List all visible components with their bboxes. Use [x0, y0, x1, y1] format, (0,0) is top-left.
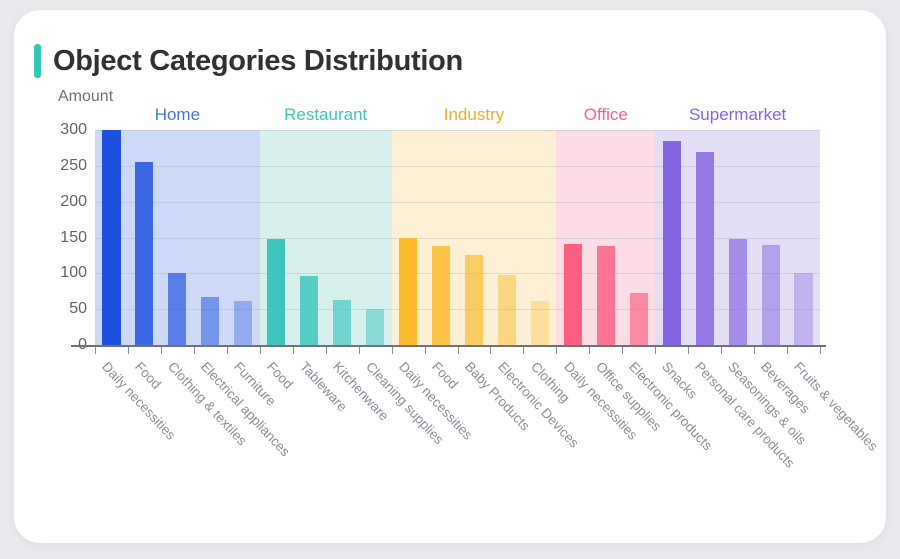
x-axis-tick	[754, 347, 755, 354]
x-axis-tick	[95, 347, 96, 354]
x-axis-tick	[128, 347, 129, 354]
bar[interactable]	[663, 141, 681, 345]
bar[interactable]	[333, 300, 351, 345]
bar[interactable]	[366, 309, 384, 345]
x-axis-tick	[589, 347, 590, 354]
x-axis-label: Food	[132, 359, 164, 392]
bar[interactable]	[234, 301, 252, 345]
x-axis-line	[71, 345, 826, 347]
y-axis-tick-label: 50	[43, 300, 87, 318]
group-label-industry: Industry	[444, 105, 504, 125]
x-axis-tick	[161, 347, 162, 354]
bar[interactable]	[564, 244, 582, 345]
bar[interactable]	[597, 246, 615, 345]
y-axis-tick-label: 250	[43, 157, 87, 175]
x-axis-tick	[458, 347, 459, 354]
x-axis-tick	[425, 347, 426, 354]
x-axis-tick	[392, 347, 393, 354]
x-axis-tick	[523, 347, 524, 354]
bar[interactable]	[498, 275, 516, 345]
x-axis-tick	[688, 347, 689, 354]
y-axis-tick-label: 300	[43, 121, 87, 139]
chart-card: Object Categories Distribution Amount 05…	[14, 10, 886, 543]
x-axis-tick	[260, 347, 261, 354]
x-axis-tick	[227, 347, 228, 354]
x-axis-tick	[326, 347, 327, 354]
bar[interactable]	[762, 245, 780, 345]
group-label-restaurant: Restaurant	[284, 105, 367, 125]
x-axis-tick	[490, 347, 491, 354]
bar[interactable]	[135, 162, 153, 345]
gridline	[95, 130, 820, 131]
x-axis-tick	[721, 347, 722, 354]
bar[interactable]	[300, 276, 318, 345]
bar[interactable]	[102, 130, 120, 345]
x-axis-tick	[359, 347, 360, 354]
x-axis-tick	[655, 347, 656, 354]
x-axis-tick	[787, 347, 788, 354]
y-axis-tick-label: 100	[43, 264, 87, 282]
bar[interactable]	[399, 238, 417, 346]
bar-chart-plot: 050100150200250300 HomeDaily necessities…	[14, 10, 886, 543]
y-axis-tick-label: 200	[43, 193, 87, 211]
bar[interactable]	[168, 273, 186, 345]
x-axis-tick	[556, 347, 557, 354]
x-axis-tick	[293, 347, 294, 354]
bar[interactable]	[630, 293, 648, 345]
y-axis-tick-label: 150	[43, 229, 87, 247]
bar[interactable]	[729, 239, 747, 345]
bar[interactable]	[696, 152, 714, 346]
bar[interactable]	[465, 255, 483, 345]
bar[interactable]	[201, 297, 219, 345]
group-label-office: Office	[584, 105, 628, 125]
bar[interactable]	[432, 246, 450, 345]
x-axis-tick	[194, 347, 195, 354]
bar[interactable]	[794, 273, 812, 345]
group-label-home: Home	[155, 105, 200, 125]
x-axis-tick	[622, 347, 623, 354]
group-label-supermarket: Supermarket	[689, 105, 786, 125]
x-axis-tick	[820, 347, 821, 354]
bar[interactable]	[531, 301, 549, 345]
bar[interactable]	[267, 239, 285, 345]
